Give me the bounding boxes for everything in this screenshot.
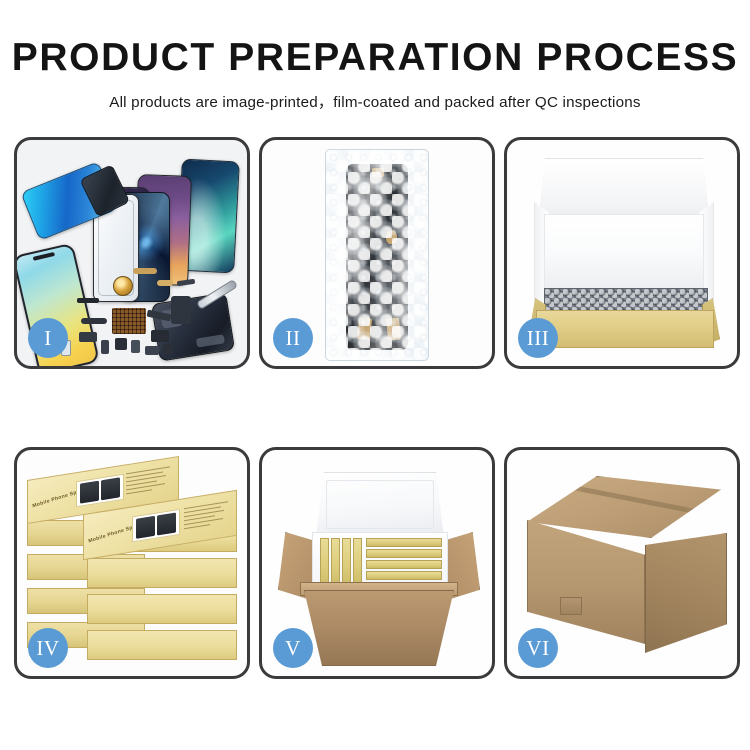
sealed-carton-icon	[521, 476, 727, 656]
process-step-grid: I II	[14, 137, 736, 679]
spare-part-icon	[77, 298, 99, 303]
retail-box-in-carton	[366, 571, 442, 580]
spare-part-icon	[151, 330, 169, 342]
step-card-6[interactable]: VI	[504, 447, 740, 679]
spare-part-icon	[101, 340, 109, 354]
foam-box-lid-icon	[316, 472, 444, 538]
page-title: PRODUCT PREPARATION PROCESS	[0, 38, 750, 79]
bubble-wrap-bag-icon	[325, 149, 429, 361]
spare-part-icon	[115, 338, 127, 350]
step-card-5[interactable]: V	[259, 447, 495, 679]
step-badge-6: VI	[518, 628, 558, 668]
retail-box-in-carton	[366, 538, 442, 547]
step-badge-5: V	[273, 628, 313, 668]
retail-box-in-carton	[342, 538, 351, 588]
carton-tape-tab-icon	[560, 597, 582, 615]
retail-box-in-carton	[366, 560, 442, 569]
spare-part-icon	[131, 340, 140, 353]
spare-part-icon	[177, 279, 196, 286]
box-window-icon	[132, 509, 180, 543]
retail-box-in-carton	[320, 538, 329, 588]
carton-body-icon	[304, 590, 454, 666]
spare-part-icon	[145, 346, 159, 355]
header: PRODUCT PREPARATION PROCESS All products…	[0, 0, 750, 112]
page-subtitle: All products are image-printed，film-coat…	[0, 90, 750, 112]
spare-part-icon	[81, 318, 107, 324]
box-spec-lines-icon	[126, 466, 170, 499]
product-preparation-infographic: PRODUCT PREPARATION PROCESS All products…	[0, 0, 750, 750]
foam-sheet-icon	[544, 214, 704, 290]
carton-right-face	[645, 533, 727, 653]
carton-seam-icon	[551, 481, 717, 518]
chip-array-part-icon	[112, 308, 146, 334]
box-spec-lines-icon	[184, 501, 228, 534]
spare-part-icon	[79, 332, 97, 342]
step-badge-3: III	[518, 318, 558, 358]
carton-left-face	[527, 520, 645, 644]
open-mailer-box-icon	[526, 158, 722, 354]
step-badge-4: IV	[28, 628, 68, 668]
retail-box-slab	[87, 558, 237, 588]
box-window-icon	[76, 474, 124, 508]
box-front-panel-icon	[536, 310, 714, 348]
step-badge-2: II	[273, 318, 313, 358]
spare-part-icon	[163, 344, 173, 354]
step-badge-1: I	[28, 318, 68, 358]
retail-box-in-carton	[331, 538, 340, 588]
plastic-sheen-overlay	[326, 150, 428, 360]
retail-box-in-carton	[353, 538, 362, 588]
retail-box-slab	[87, 630, 237, 660]
step-card-2[interactable]: II	[259, 137, 495, 369]
carton-tape-tab-icon	[560, 669, 582, 676]
retail-box-in-carton	[366, 549, 442, 558]
flex-cable-part-icon	[133, 268, 157, 274]
step-card-1[interactable]: I	[14, 137, 250, 369]
step-card-4[interactable]: Mobile Phone Spare Parts Mobile Phone	[14, 447, 250, 679]
spare-part-icon	[171, 296, 191, 324]
gold-coil-part-icon	[113, 276, 133, 296]
step-card-3[interactable]: III	[504, 137, 740, 369]
retail-box-slab	[87, 594, 237, 624]
flex-cable-part-icon	[157, 280, 173, 286]
